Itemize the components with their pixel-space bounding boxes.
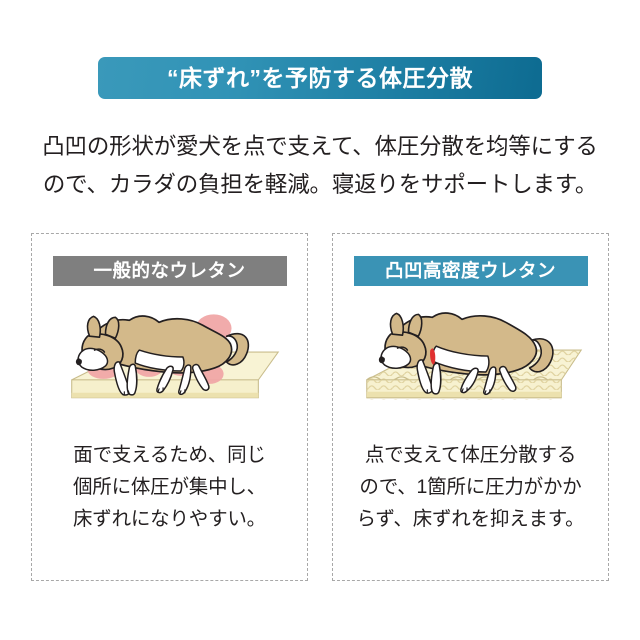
caption-bumpy-line-3: らず、床ずれを抑えます。 — [333, 503, 608, 535]
lead-line-1: 凸凹の形状が愛犬を点で支えて、体圧分散を均等にする — [0, 128, 640, 166]
caption-generic-line-2: 個所に体圧が集中し、 — [32, 471, 307, 503]
panel-label-bumpy: 凸凹高密度ウレタン — [354, 256, 588, 286]
illustration-wavy-mat-dog — [333, 292, 608, 437]
caption-bumpy-line-1: 点で支えて体圧分散する — [333, 439, 608, 471]
banner-title: “床ずれ”を予防する体圧分散 — [167, 67, 473, 90]
header-banner-wrap: “床ずれ”を予防する体圧分散 — [0, 57, 640, 99]
panel-label-generic-text: 一般的なウレタン — [93, 262, 245, 281]
lead-paragraph: 凸凹の形状が愛犬を点で支えて、体圧分散を均等にする ので、カラダの負担を軽減。寝… — [0, 128, 640, 204]
panel-bumpy-urethane: 凸凹高密度ウレタン — [332, 233, 609, 581]
caption-generic-line-1: 面で支えるため、同じ — [32, 439, 307, 471]
panel-label-bumpy-text: 凸凹高密度ウレタン — [385, 262, 556, 281]
comparison-panels: 一般的なウレタン — [31, 233, 609, 581]
caption-bumpy-line-2: ので、1箇所に圧力がかか — [333, 471, 608, 503]
caption-generic-line-3: 床ずれになりやすい。 — [32, 503, 307, 535]
lead-line-2: ので、カラダの負担を軽減。寝返りをサポートします。 — [0, 166, 640, 204]
caption-generic: 面で支えるため、同じ 個所に体圧が集中し、 床ずれになりやすい。 — [32, 439, 307, 535]
header-banner: “床ずれ”を予防する体圧分散 — [98, 57, 542, 99]
panel-label-generic: 一般的なウレタン — [53, 256, 287, 286]
caption-bumpy: 点で支えて体圧分散する ので、1箇所に圧力がかか らず、床ずれを抑えます。 — [333, 439, 608, 535]
illustration-flat-mat-dog — [32, 292, 307, 437]
panel-generic-urethane: 一般的なウレタン — [31, 233, 308, 581]
